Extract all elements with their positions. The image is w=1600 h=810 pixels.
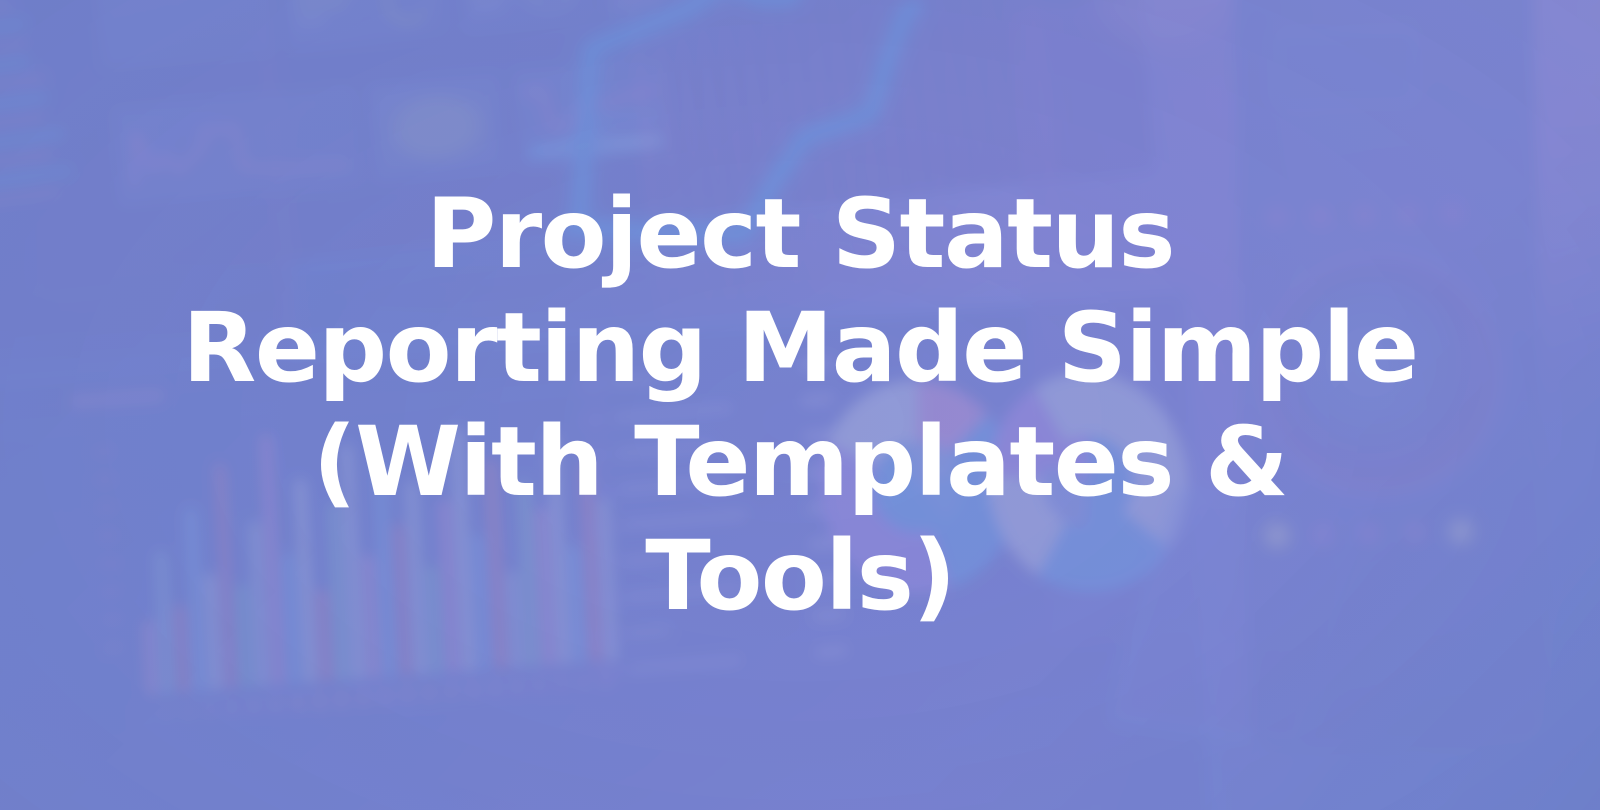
page-title: Project Status Reporting Made Simple (Wi…: [170, 177, 1430, 634]
hero-banner: Project Status Reporting Made Simple (Wi…: [0, 0, 1600, 810]
headline-container: Project Status Reporting Made Simple (Wi…: [0, 0, 1600, 810]
